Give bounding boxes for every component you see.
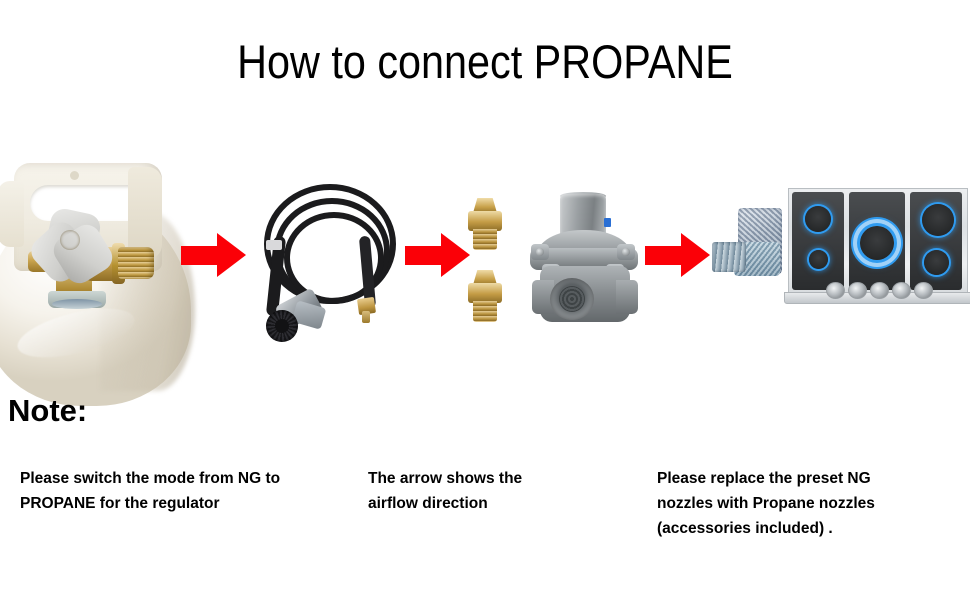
flow-arrow-1-icon — [181, 233, 246, 277]
hose-label-band — [266, 240, 282, 250]
cooktop-burner-bottom-left — [809, 250, 828, 269]
elbow-male-threads — [712, 242, 746, 272]
arrow-shaft — [405, 246, 443, 265]
cooktop-burner-top-right — [922, 204, 954, 236]
note-2-line-2: airflow direction — [368, 491, 638, 516]
cooktop-knob — [892, 282, 911, 299]
cooktop-knob — [848, 282, 867, 299]
page-title: How to connect PROPANE — [58, 34, 912, 89]
note-1-line-1: Please switch the mode from NG to — [20, 466, 340, 491]
regulator-blue-tab — [604, 218, 611, 227]
flow-arrow-2-icon — [405, 233, 470, 277]
cooktop-knob-row — [826, 282, 930, 298]
tank-collar-left — [0, 181, 24, 247]
arrow-shaft — [181, 246, 219, 265]
tank-valve-outlet — [118, 247, 154, 279]
regulator-and-nozzles-image — [466, 192, 641, 340]
cooktop-burner-bottom-right — [924, 250, 949, 275]
regulator-bolt — [622, 248, 630, 256]
regulator-bolt — [536, 248, 544, 256]
cooktop-knob — [826, 282, 845, 299]
brass-nozzle-upper — [468, 198, 502, 250]
nozzle-hex — [468, 211, 502, 231]
gas-cooktop-image — [788, 188, 966, 310]
note-item-3: Please replace the preset NG nozzles wit… — [657, 466, 957, 541]
cooktop-burner-top-left — [805, 206, 831, 232]
note-item-2: The arrow shows the airflow direction — [368, 466, 638, 516]
arrow-head — [217, 233, 246, 277]
qcc-connector-knob — [266, 310, 298, 342]
elbow-fitting-image — [712, 208, 786, 292]
cooktop-knob — [870, 282, 889, 299]
note-3-line-2: nozzles with Propane nozzles — [657, 491, 957, 516]
hose-brass-pin — [362, 311, 370, 323]
note-3-line-1: Please replace the preset NG — [657, 466, 957, 491]
regulator-threaded-opening — [550, 278, 594, 320]
infographic-page: How to connect PROPANE — [0, 0, 970, 600]
regulator-inlet-port — [616, 280, 638, 314]
nozzle-hex — [468, 283, 502, 303]
note-1-line-2: PROPANE for the regulator — [20, 491, 340, 516]
gas-pressure-regulator — [528, 192, 640, 338]
nozzle-thread — [473, 301, 497, 322]
tank-collar-right — [128, 167, 162, 259]
arrow-shaft — [645, 246, 683, 265]
cooktop-burner-center — [860, 226, 894, 260]
handwheel-hub-screw — [60, 230, 80, 250]
tank-valve-handwheel — [36, 211, 110, 273]
flow-arrow-3-icon — [645, 233, 710, 277]
propane-tank-image — [0, 163, 190, 358]
note-3-line-3: (accessories included) . — [657, 516, 957, 541]
gas-hose-image — [258, 178, 398, 346]
tank-valve-base-ring — [52, 299, 102, 309]
note-item-1: Please switch the mode from NG to PROPAN… — [20, 466, 340, 516]
nozzle-thread — [473, 229, 497, 250]
brass-nozzle-lower — [468, 270, 502, 322]
arrow-head — [681, 233, 710, 277]
cooktop-knob — [914, 282, 933, 299]
note-heading: Note: — [8, 393, 87, 429]
note-2-line-1: The arrow shows the — [368, 466, 638, 491]
tank-collar-notch — [70, 171, 79, 180]
